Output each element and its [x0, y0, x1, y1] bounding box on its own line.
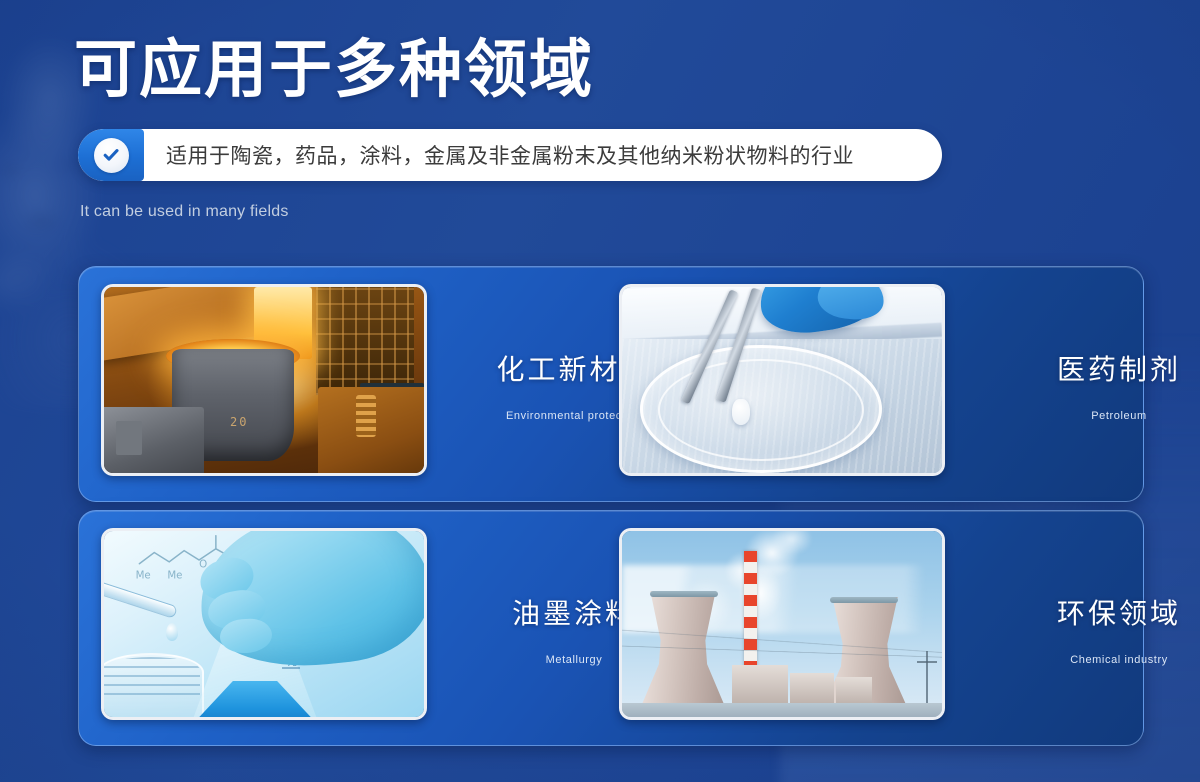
svg-text:Me: Me — [167, 570, 182, 582]
card-label-cn: 医药制剂 — [1057, 348, 1181, 388]
petri-dish-tweezers-photo — [619, 284, 945, 476]
power-plant-cooling-towers-photo — [619, 528, 945, 720]
label-block-environmental: 环保领域 Chemical industry — [1004, 511, 1200, 747]
card-label-en: Chemical industry — [1070, 654, 1168, 666]
page-root: 可应用于多种领域 适用于陶瓷，药品，涂料，金属及非金属粉末及其他纳米粉状物料的行… — [0, 0, 1200, 782]
card-row-1[interactable]: 20 化工新材料 Environmental protection — [78, 266, 1144, 502]
label-block-pharma: 医药制剂 Petroleum — [1004, 267, 1200, 503]
card-label-cn: 油墨涂料 — [512, 592, 636, 632]
foundry-molten-metal-photo: 20 — [101, 284, 427, 476]
card-label-en: Metallurgy — [546, 654, 603, 666]
svg-text:Me: Me — [136, 570, 151, 582]
chemistry-flask-photo: Me Me O OH 100 75 — [101, 528, 427, 720]
card-row-2[interactable]: Me Me O OH 100 75 — [78, 510, 1144, 746]
card-label-en: Petroleum — [1091, 410, 1147, 422]
card-list: 20 化工新材料 Environmental protection — [0, 0, 1200, 782]
card-label-cn: 环保领域 — [1057, 592, 1181, 632]
ladle-number: 20 — [230, 415, 248, 429]
